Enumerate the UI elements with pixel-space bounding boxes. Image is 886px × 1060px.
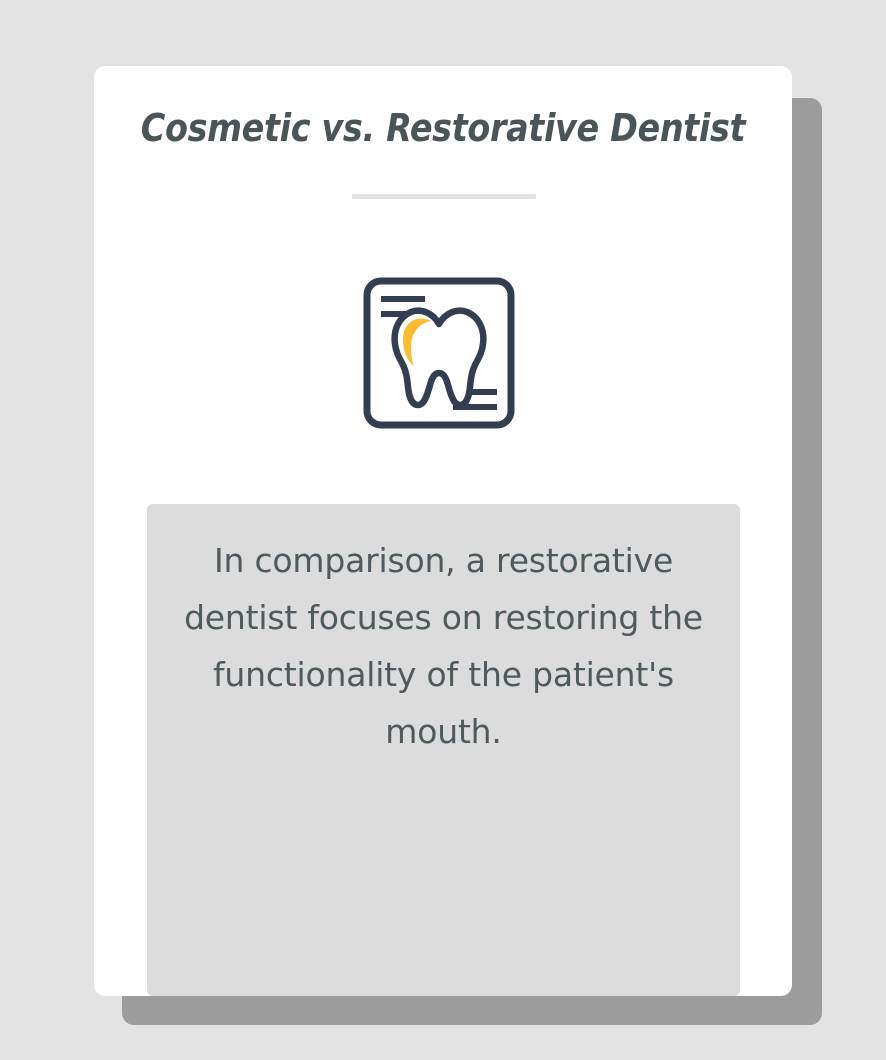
body-text: In comparison, a restorative dentist foc… [177,532,710,760]
slide-card: Cosmetic vs. Restorative Dentist In comp… [94,66,792,996]
body-text-panel: In comparison, a restorative dentist foc… [147,504,740,996]
dental-xray-tooth-icon [363,277,515,429]
title-divider [352,194,536,199]
slide-stage: Cosmetic vs. Restorative Dentist In comp… [0,0,886,1060]
page-title: Cosmetic vs. Restorative Dentist [136,106,750,150]
